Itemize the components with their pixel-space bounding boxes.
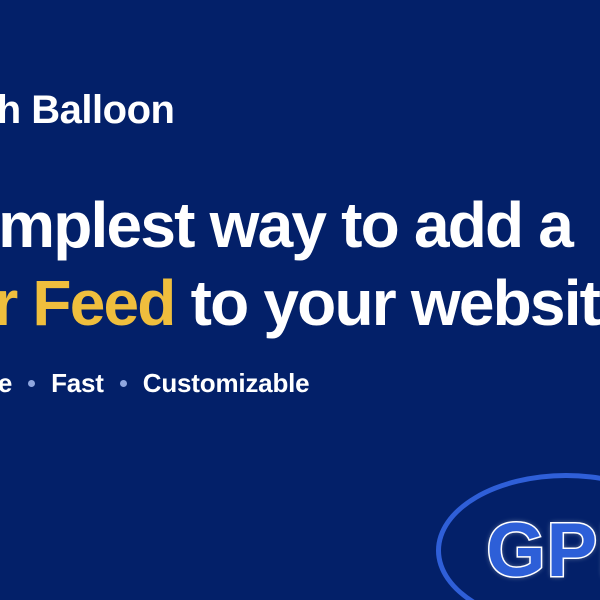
headline-accent-text: Twitter Feed — [0, 267, 175, 339]
feature-item-customizable: Customizable — [143, 368, 310, 399]
bullet-separator-icon — [28, 380, 35, 387]
bullet-separator-icon — [120, 380, 127, 387]
headline-line-2-rest: to your website — [175, 267, 600, 339]
brand-wordmark-text: Smash Balloon — [0, 88, 174, 132]
headline-line-1: The simplest way to add a — [0, 186, 600, 264]
gpl-badge-label: GPL — [436, 473, 600, 600]
headline: The simplest way to add a Twitter Feed t… — [0, 186, 600, 342]
promo-banner: Smash Balloon The simplest way to add a … — [0, 0, 600, 600]
feature-item-fast: Fast — [51, 368, 104, 399]
feature-item-reliable: Reliable — [0, 368, 12, 399]
headline-line-2: Twitter Feed to your website — [0, 264, 600, 342]
gpl-badge: GPL — [436, 473, 600, 600]
feature-list: Reliable Fast Customizable — [0, 368, 309, 399]
brand-wordmark: Smash Balloon — [0, 90, 174, 130]
